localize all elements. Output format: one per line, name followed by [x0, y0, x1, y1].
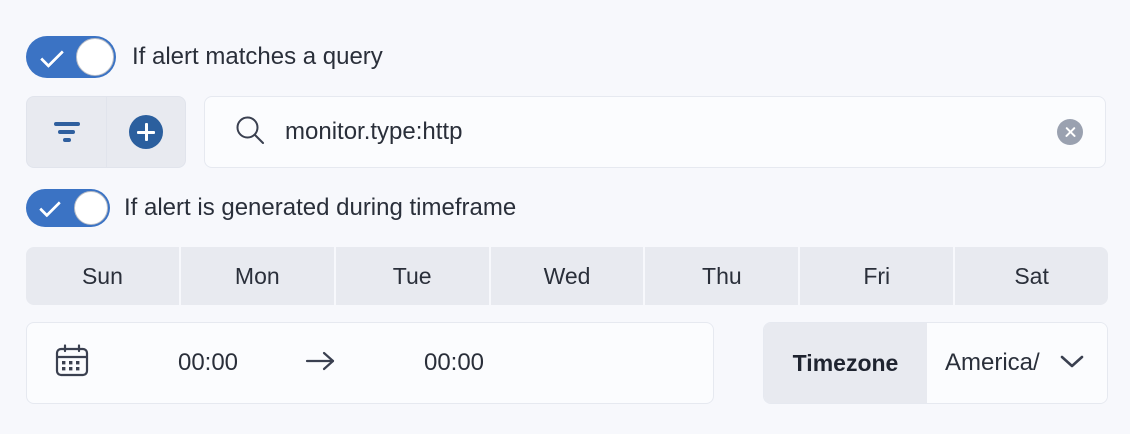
filter-button[interactable] [26, 96, 106, 168]
plus-circle-icon [129, 115, 163, 149]
clear-query-button[interactable] [1057, 119, 1083, 145]
day-button-sat[interactable]: Sat [955, 247, 1108, 305]
calendar-icon [53, 342, 91, 385]
toggle-knob [76, 38, 114, 76]
day-button-wed[interactable]: Wed [491, 247, 646, 305]
arrow-right-icon [303, 349, 341, 378]
query-bar: monitor.type:http [26, 96, 1106, 168]
time-range-start[interactable]: 00:00 [113, 349, 303, 377]
query-condition-row: If alert matches a query [26, 36, 383, 78]
check-icon [39, 196, 61, 218]
time-range-field[interactable]: 00:00 00:00 [26, 322, 714, 404]
query-condition-label: If alert matches a query [132, 43, 383, 71]
check-icon [40, 44, 64, 68]
query-search-value: monitor.type:http [285, 118, 1105, 146]
day-button-tue[interactable]: Tue [336, 247, 491, 305]
day-button-fri[interactable]: Fri [800, 247, 955, 305]
query-button-group [26, 96, 186, 168]
day-of-week-selector: Sun Mon Tue Wed Thu Fri Sat [26, 247, 1108, 305]
toggle-knob [74, 191, 108, 225]
query-condition-toggle[interactable] [26, 36, 116, 78]
timeframe-condition-row: If alert is generated during timeframe [26, 189, 516, 227]
timezone-dropdown[interactable]: America/ [927, 323, 1107, 403]
day-button-thu[interactable]: Thu [645, 247, 800, 305]
day-button-sun[interactable]: Sun [26, 247, 181, 305]
filter-icon [54, 122, 80, 142]
query-search-field[interactable]: monitor.type:http [204, 96, 1106, 168]
timezone-selector: Timezone America/ [763, 322, 1108, 404]
timezone-value: America/ [945, 349, 1049, 377]
add-query-button[interactable] [106, 96, 186, 168]
day-button-mon[interactable]: Mon [181, 247, 336, 305]
timeframe-condition-label: If alert is generated during timeframe [124, 194, 516, 222]
time-range-end[interactable]: 00:00 [359, 349, 549, 377]
alert-conditions-panel: If alert matches a query monitor.type:ht… [0, 0, 1130, 434]
search-icon [233, 113, 267, 152]
timeframe-condition-toggle[interactable] [26, 189, 110, 227]
chevron-down-icon [1055, 350, 1089, 377]
timezone-label: Timezone [764, 323, 927, 403]
